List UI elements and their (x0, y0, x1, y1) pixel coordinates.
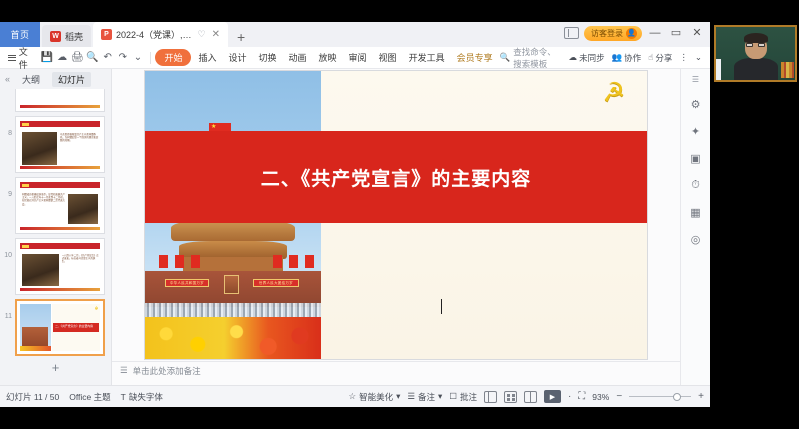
thumb-photo (68, 194, 98, 224)
menu-hamburger-icon (8, 53, 16, 62)
thumb-body-text: 同盟成员积极投身革命，宣传和发展共产主义。一八四七年十一月底到十二月初，在伦敦召… (22, 193, 67, 206)
print-icon[interactable]: 🖨 (71, 50, 84, 65)
file-menu-button[interactable]: 文件 (4, 45, 38, 71)
redo-icon[interactable]: ↷ (116, 50, 129, 65)
thumbnail-number: 11 (3, 299, 12, 320)
thumbnail-preview[interactable]: 同盟成员积极投身革命，宣传和发展共产主义。一八四七年十一月底到十二月初，在伦敦召… (15, 177, 105, 234)
thumb-photo (22, 254, 59, 286)
slide-title[interactable]: 二、《共产党宣言》的主要内容 (145, 131, 647, 223)
slide-thumbnail-panel: « 大纲 幻灯片 7 工业革命产生的无产阶级需要自己的理论武器和行动纲领，同时也… (0, 69, 112, 385)
document-tab-label-active: 2022-4（党课）, ...ptx - (1). (116, 28, 194, 41)
ribbon-tab-slideshow[interactable]: 放映 (314, 50, 342, 65)
bookshelf (781, 62, 794, 78)
ribbon-tab-member[interactable]: 会员专享 (452, 50, 498, 65)
normal-view-icon[interactable] (484, 391, 497, 403)
shield-icon[interactable]: ◎ (688, 231, 704, 247)
collaborate-label: 协作 (624, 52, 641, 64)
notes-icon: ☰ (120, 365, 128, 376)
customize-icon[interactable]: ⌄ (131, 50, 144, 65)
minimize-button[interactable]: — (647, 27, 663, 39)
tab-slides[interactable]: 幻灯片 (52, 72, 91, 87)
comments-button[interactable]: ☐ 批注 (449, 391, 477, 403)
file-menu-label: 文件 (19, 45, 35, 71)
sync-status-button[interactable]: ☁ 未同步 (569, 52, 605, 64)
document-tab-docer[interactable]: W 稻壳 (42, 25, 91, 47)
thumb-body-text: 一八四八年二月，《共产党宣言》正式发表，标志着马克思主义的诞生。 (62, 254, 99, 264)
collapse-panel-icon[interactable]: « (5, 74, 10, 84)
thumb-header-band (20, 182, 100, 188)
thumbnail-panel-tabs: « 大纲 幻灯片 (0, 69, 111, 89)
font-icon: T (121, 392, 126, 402)
save-icon[interactable]: 💾 (40, 50, 53, 65)
ribbon-right-actions: 🔍 查找命令、搜索模板 ☁ 未同步 👥 协作 ☝ 分享 ⋮ ⌄ (500, 46, 706, 70)
slide-sorter-icon[interactable] (504, 391, 517, 403)
ribbon-tab-transition[interactable]: 切换 (253, 50, 281, 65)
people-icon: 👥 (612, 52, 623, 63)
maximize-button[interactable]: ▭ (668, 27, 684, 39)
thumb-emblem-icon: ☬ (94, 306, 98, 312)
thumbnail-preview-selected[interactable]: ☬ 二、《共产党宣言》的主要内容 (15, 299, 105, 356)
letterbox-bottom (0, 407, 799, 429)
divider (150, 52, 151, 64)
gate-banner-right: 世界人民大团结万岁 (253, 279, 299, 287)
add-slide-button[interactable]: + (0, 357, 111, 379)
screen-record-icon[interactable]: ▣ (688, 150, 704, 166)
status-bar-right: ☆ 智能美化 ▾ ☰ 备注 ▾ ☐ 批注 ▶ · ⛶ (348, 390, 704, 403)
thumbnail-preview[interactable]: 一八四八年二月，《共产党宣言》正式发表，标志着马克思主义的诞生。 (15, 238, 105, 295)
gate-banner-left: 中华人民共和国万岁 (165, 279, 209, 287)
side-flag (175, 255, 184, 268)
thumb-title-band: 二、《共产党宣言》的主要内容 (53, 323, 99, 331)
document-tab-active[interactable]: P 2022-4（党课）, ...ptx - (1). ♡ ✕ (93, 22, 228, 47)
gate-banner-left-text: 中华人民共和国万岁 (166, 280, 208, 287)
thumbnail-item[interactable]: 10 一八四八年二月，《共产党宣言》正式发表，标志着马克思主义的诞生。 (0, 235, 111, 296)
search-placeholder: 查找命令、搜索模板 (513, 46, 561, 70)
close-button[interactable]: ✕ (689, 27, 705, 39)
ribbon-bar: 文件 💾 ☁ 🖨 🔍 ↶ ↷ ⌄ 开始 插入 设计 切换 动画 放映 审阅 视图… (0, 47, 710, 69)
thumb-footer-band (20, 227, 100, 230)
window-controls: 访客登录 👤 — ▭ ✕ (564, 22, 710, 47)
whiteboard-edge (716, 59, 721, 81)
eyeglass-left (746, 43, 753, 47)
thumbnail-item[interactable]: 9 同盟成员积极投身革命，宣传和发展共产主义。一八四七年十一月底到十二月初，在伦… (0, 174, 111, 235)
ribbon-tab-view[interactable]: 视图 (374, 50, 402, 65)
ppt-file-icon: P (101, 29, 112, 40)
status-bar: 幻灯片 11 / 50 Office 主题 T 缺失字体 ☆ 智能美化 ▾ ☰ … (0, 385, 710, 407)
guest-login-button[interactable]: 访客登录 👤 (584, 26, 642, 41)
tab-bookmark-icon[interactable]: ♡ (198, 29, 206, 40)
print-preview-icon[interactable]: 🔍 (86, 50, 99, 65)
thumb-flowers (20, 346, 51, 351)
portrait-frame (224, 275, 239, 294)
ribbon-tab-animation[interactable]: 动画 (284, 50, 312, 65)
share-label: 分享 (655, 52, 672, 64)
webcam-video-overlay[interactable] (710, 0, 799, 130)
right-tool-rail: ☰ ⚙ ✦ ▣ ⏱ ▦ ◎ (680, 69, 710, 385)
document-tab-label: 稻壳 (65, 30, 83, 43)
thumbnail-preview[interactable]: 工业革命产生的无产阶级需要自己的理论武器和行动纲领，同时也要求有自己的组织起来的… (15, 89, 105, 112)
gate-banner-right-text: 世界人民大团结万岁 (254, 280, 298, 287)
notes-toggle-button[interactable]: ☰ 备注 ▾ (407, 391, 442, 403)
notes-pane[interactable]: ☰ 单击此处添加备注 (112, 361, 680, 379)
speaker-hair (744, 33, 768, 43)
thumb-title-text: 二、《共产党宣言》的主要内容 (55, 324, 98, 328)
start-slideshow-button[interactable]: ▶ (544, 390, 561, 403)
share-icon: ☝ (648, 52, 653, 63)
settings-sliders-icon[interactable]: ⚙ (688, 96, 704, 112)
notes-toggle-label: 备注 (418, 391, 435, 403)
wps-doc-icon: W (50, 31, 61, 42)
side-flag (191, 255, 200, 268)
zoom-in-button[interactable]: + (698, 391, 704, 402)
thumbnail-item[interactable]: 8 马克思恩格斯受共产主义者同盟委托，为同盟起草一个周详的理论和实践的党纲。 (0, 113, 111, 174)
pin-icon[interactable]: ☰ (692, 75, 699, 84)
slide-count-status: 幻灯片 11 / 50 (6, 391, 59, 403)
speaker-torso (734, 58, 778, 80)
thumb-footer-band (20, 105, 100, 108)
slide-editor-area: 中华人民共和国万岁 世界人民大团结万岁 ☭ 二、《共产党宣言》 (112, 69, 680, 385)
close-tab-icon[interactable]: ✕ (212, 29, 220, 40)
zoom-slider[interactable] (629, 396, 691, 397)
thumb-header-band (20, 243, 100, 249)
new-tab-button[interactable]: + (228, 29, 254, 47)
save-as-cloud-icon[interactable]: ☁ (56, 50, 69, 65)
thumbnail-number: 9 (3, 177, 12, 198)
thumbnail-number: 8 (3, 116, 12, 137)
image-tools-icon[interactable]: ▦ (688, 204, 704, 220)
avatar: 👤 (626, 28, 637, 39)
notes-placeholder: 单击此处添加备注 (133, 365, 201, 377)
wps-presentation-window: 首页 W 稻壳 P 2022-4（党课）, ...ptx - (1). ♡ ✕ … (0, 22, 710, 407)
slideshow-dropdown-icon[interactable]: · (568, 391, 571, 402)
thumb-footer-band (20, 166, 100, 169)
ribbon-tab-insert[interactable]: 插入 (193, 50, 221, 65)
home-tab[interactable]: 首页 (0, 22, 40, 47)
collaborate-button[interactable]: 👥 协作 (612, 52, 642, 64)
collapse-ribbon-icon[interactable]: ⌄ (695, 52, 702, 63)
font-warning-status[interactable]: T 缺失字体 (121, 391, 163, 403)
ribbon-tab-developer[interactable]: 开发工具 (404, 50, 450, 65)
eyeglass-right (758, 43, 765, 47)
thumbnail-item-selected[interactable]: 11 ☬ 二、《共产党宣言》的主要内容 (0, 296, 111, 357)
ai-sparkle-icon[interactable]: ✦ (688, 123, 704, 139)
thumbnail-item[interactable]: 7 工业革命产生的无产阶级需要自己的理论武器和行动纲领，同时也要求有自己的组织起… (0, 89, 111, 113)
more-options-icon[interactable]: ⋮ (679, 52, 688, 63)
letterbox-top (0, 0, 710, 22)
window-tab-bar: 首页 W 稻壳 P 2022-4（党课）, ...ptx - (1). ♡ ✕ … (0, 22, 710, 47)
ribbon-tab-start[interactable]: 开始 (155, 49, 191, 66)
thumbnail-list[interactable]: 7 工业革命产生的无产阶级需要自己的理论武器和行动纲领，同时也要求有自己的组织起… (0, 89, 111, 385)
notes-list-icon: ☰ (407, 391, 415, 402)
sync-status-label: 未同步 (579, 52, 605, 64)
gate-wall: 中华人民共和国万岁 世界人民大团结万岁 (145, 271, 321, 307)
zoom-level-label[interactable]: 93% (592, 392, 609, 402)
history-clock-icon[interactable]: ⏱ (688, 177, 704, 193)
fit-to-window-icon[interactable]: ⛶ (578, 391, 585, 402)
ribbon-tab-review[interactable]: 审阅 (344, 50, 372, 65)
hammer-sickle-emblem-icon: ☭ (601, 78, 626, 106)
side-flag (159, 255, 168, 268)
font-warning-label: 缺失字体 (129, 391, 163, 403)
chevron-down-icon[interactable]: ▾ (438, 391, 442, 402)
webcam-frame (714, 25, 797, 82)
undo-icon[interactable]: ↶ (101, 50, 114, 65)
editor-body: « 大纲 幻灯片 7 工业革命产生的无产阶级需要自己的理论武器和行动纲领，同时也… (0, 69, 710, 385)
theme-status[interactable]: Office 主题 (69, 391, 110, 403)
zoom-out-button[interactable]: − (616, 391, 622, 402)
side-flag (289, 255, 298, 268)
thumbnail-number: 10 (3, 238, 12, 259)
home-tab-label: 首页 (10, 28, 29, 41)
letterbox-right (710, 130, 799, 407)
text-cursor (441, 299, 442, 314)
thumb-body-text: 马克思恩格斯受共产主义者同盟委托，为同盟起草一个周详的理论和实践的党纲。 (60, 133, 99, 143)
comments-label: 批注 (460, 391, 477, 403)
cloud-sync-icon: ☁ (569, 52, 578, 63)
ribbon-tab-design[interactable]: 设计 (223, 50, 251, 65)
smart-beautify-button[interactable]: ☆ 智能美化 ▾ (348, 391, 400, 403)
thumbnail-preview[interactable]: 马克思恩格斯受共产主义者同盟委托，为同盟起草一个周详的理论和实践的党纲。 (15, 116, 105, 173)
slide-canvas[interactable]: 中华人民共和国万岁 世界人民大团结万岁 ☭ 二、《共产党宣言》 (145, 71, 647, 359)
thumb-footer-band (20, 288, 100, 291)
comment-icon: ☐ (449, 391, 457, 402)
reading-view-icon[interactable] (524, 391, 537, 403)
tab-outline[interactable]: 大纲 (16, 72, 46, 87)
search-icon: 🔍 (500, 52, 511, 63)
side-flag (273, 255, 282, 268)
sidebar-toggle-icon[interactable] (564, 27, 579, 39)
flower-bed (145, 317, 321, 359)
guest-login-label: 访客登录 (591, 28, 623, 39)
beautify-label: 智能美化 (359, 391, 393, 403)
thumb-header-band (20, 121, 100, 127)
side-flag (305, 255, 314, 268)
zoom-slider-handle[interactable] (673, 393, 681, 401)
beautify-icon: ☆ (348, 391, 356, 402)
screen-root: 首页 W 稻壳 P 2022-4（党课）, ...ptx - (1). ♡ ✕ … (0, 0, 799, 429)
chevron-down-icon[interactable]: ▾ (396, 391, 400, 402)
search-input[interactable]: 🔍 查找命令、搜索模板 (500, 46, 562, 70)
thumb-photo (22, 132, 57, 165)
share-button[interactable]: ☝ 分享 (648, 52, 672, 64)
